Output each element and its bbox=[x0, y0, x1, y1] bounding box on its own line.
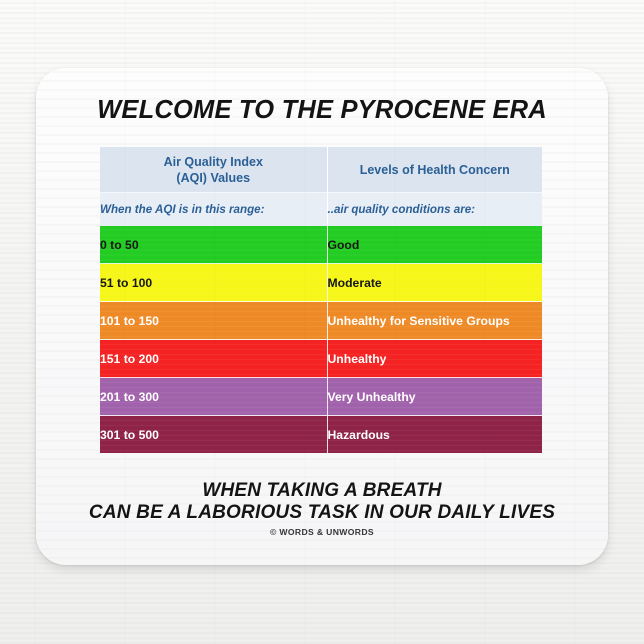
aqi-range-cell: 51 to 100 bbox=[100, 264, 327, 302]
desk-background: WELCOME TO THE PYROCENE ERA Air Quality … bbox=[0, 0, 644, 644]
health-concern-cell: Hazardous bbox=[327, 416, 542, 454]
table-row: 301 to 500Hazardous bbox=[100, 416, 542, 454]
page-title: WELCOME TO THE PYROCENE ERA bbox=[36, 96, 608, 125]
aqi-range-cell: 0 to 50 bbox=[100, 226, 327, 264]
caption: WHEN TAKING A BREATH CAN BE A LABORIOUS … bbox=[36, 480, 608, 525]
aqi-range-cell: 201 to 300 bbox=[100, 378, 327, 416]
aqi-table: Air Quality Index (AQI) Values Levels of… bbox=[100, 147, 542, 453]
health-concern-cell: Unhealthy bbox=[327, 340, 542, 378]
health-concern-cell: Good bbox=[327, 226, 542, 264]
subheader-conditions: ..air quality conditions are: bbox=[327, 193, 542, 227]
column-header-aqi-values-line2: (AQI) Values bbox=[176, 171, 250, 185]
mousepad: WELCOME TO THE PYROCENE ERA Air Quality … bbox=[36, 68, 608, 565]
subheader-aqi-range: When the AQI is in this range: bbox=[100, 193, 327, 227]
aqi-table-body: Air Quality Index (AQI) Values Levels of… bbox=[100, 147, 542, 453]
caption-line-1: WHEN TAKING A BREATH bbox=[36, 480, 608, 502]
table-row: 101 to 150Unhealthy for Sensitive Groups bbox=[100, 302, 542, 340]
column-header-aqi-values: Air Quality Index (AQI) Values bbox=[100, 147, 327, 193]
table-row: 51 to 100Moderate bbox=[100, 264, 542, 302]
health-concern-cell: Unhealthy for Sensitive Groups bbox=[327, 302, 542, 340]
column-header-aqi-values-line1: Air Quality Index bbox=[164, 155, 263, 169]
aqi-range-cell: 101 to 150 bbox=[100, 302, 327, 340]
aqi-range-cell: 301 to 500 bbox=[100, 416, 327, 454]
caption-line-2: CAN BE A LABORIOUS TASK IN OUR DAILY LIV… bbox=[36, 502, 608, 524]
table-row: 201 to 300Very Unhealthy bbox=[100, 378, 542, 416]
column-header-health-concern: Levels of Health Concern bbox=[327, 147, 542, 193]
health-concern-cell: Moderate bbox=[327, 264, 542, 302]
table-header-row: Air Quality Index (AQI) Values Levels of… bbox=[100, 147, 542, 193]
table-subheader-row: When the AQI is in this range: ..air qua… bbox=[100, 193, 542, 227]
table-row: 151 to 200Unhealthy bbox=[100, 340, 542, 378]
credit-line: © WORDS & UNWORDS bbox=[36, 527, 608, 537]
aqi-range-cell: 151 to 200 bbox=[100, 340, 327, 378]
table-row: 0 to 50Good bbox=[100, 226, 542, 264]
health-concern-cell: Very Unhealthy bbox=[327, 378, 542, 416]
